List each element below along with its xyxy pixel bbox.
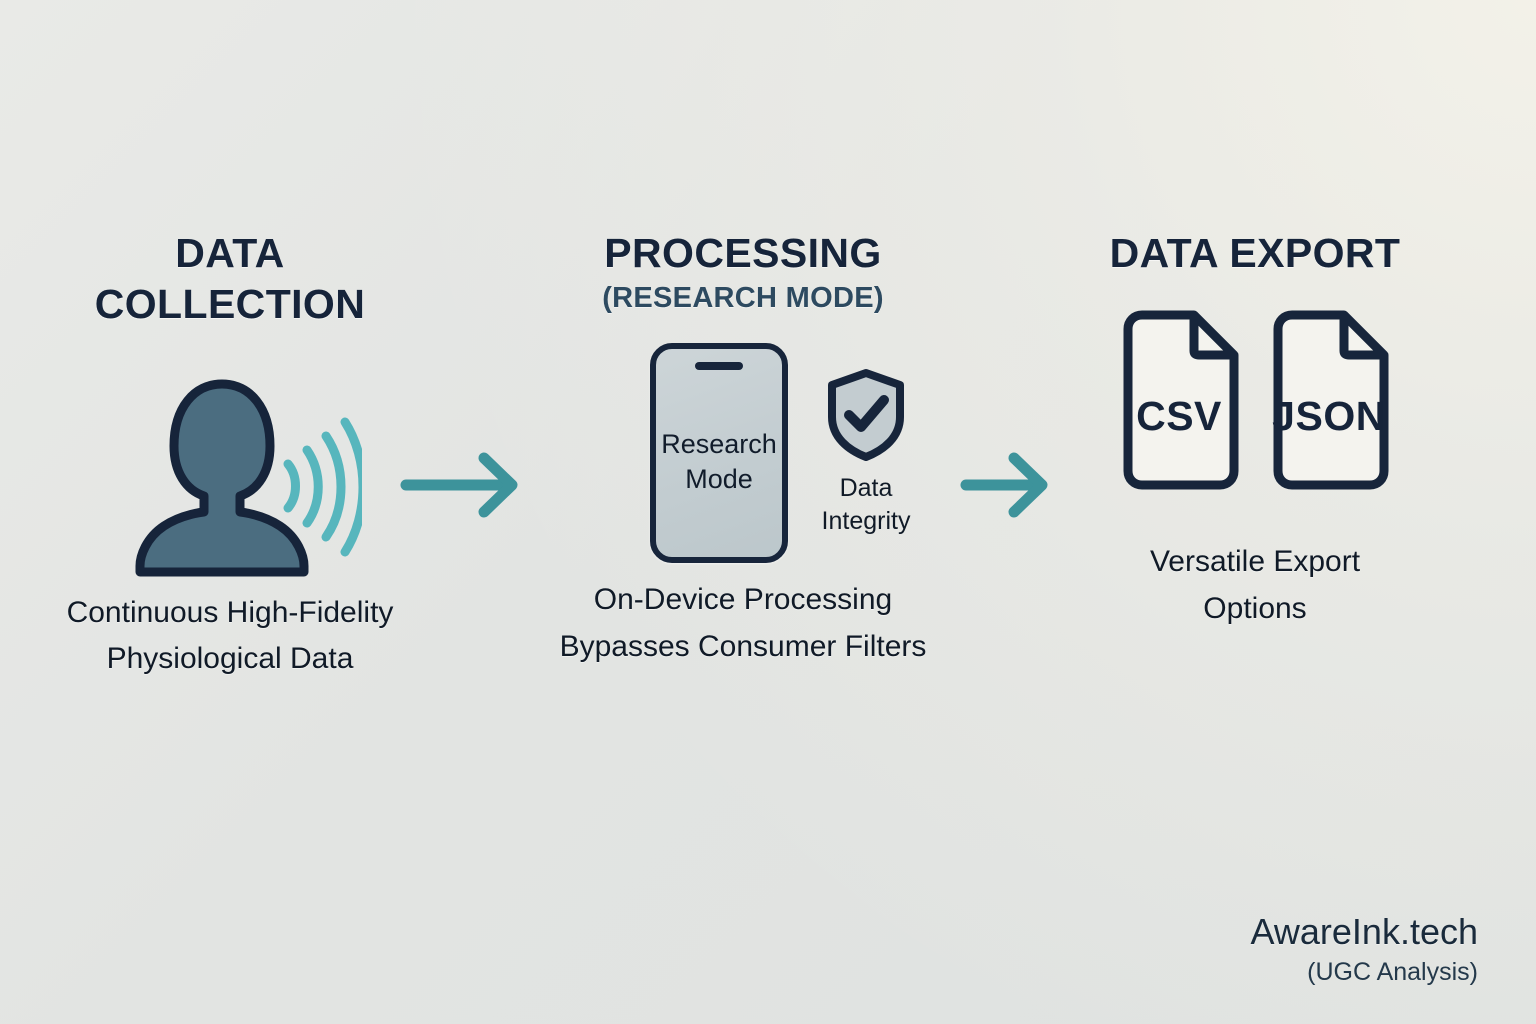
step-1-heading-line-2: COLLECTION	[20, 279, 440, 330]
step-3-caption-line-1: Versatile Export	[1040, 539, 1470, 586]
file-json-label: JSON	[1266, 393, 1392, 440]
step-1-caption: Continuous High-Fidelity Physiological D…	[20, 590, 440, 684]
step-3-heading-line-1: DATA EXPORT	[1040, 228, 1470, 279]
step-2-subheading: (RESEARCH MODE)	[508, 281, 978, 317]
step-3-icon-area: CSV JSON	[1040, 301, 1470, 539]
step-2-caption-line-2: Bypasses Consumer Filters	[508, 624, 978, 671]
step-3-heading: DATA EXPORT	[1040, 228, 1470, 279]
person-with-signal-waves-icon	[112, 360, 362, 580]
step-2-heading-line-1: PROCESSING	[508, 228, 978, 279]
step-2-caption-line-1: On-Device Processing	[508, 577, 978, 624]
person-signal-svg	[112, 360, 362, 580]
shield-label-line-2: Integrity	[806, 505, 926, 538]
device-group: Research Mode Data Integrity	[630, 339, 930, 577]
step-1-icon-area	[20, 352, 440, 590]
shield-check-icon	[824, 367, 908, 463]
step-2-caption: On-Device Processing Bypasses Consumer F…	[508, 577, 978, 671]
footer-branding: AwareInk.tech (UGC Analysis)	[1251, 911, 1478, 988]
pipeline-diagram: DATA COLLECTION	[0, 0, 1536, 1024]
shield-label-line-1: Data	[806, 472, 926, 505]
step-1-heading: DATA COLLECTION	[20, 228, 440, 330]
shield-label: Data Integrity	[806, 472, 926, 538]
phone-screen-label: Research Mode	[650, 427, 788, 498]
footer-subtitle: (UGC Analysis)	[1251, 956, 1478, 989]
step-1-caption-line-1: Continuous High-Fidelity	[20, 590, 440, 637]
step-data-collection: DATA COLLECTION	[20, 228, 440, 683]
data-integrity-badge: Data Integrity	[806, 367, 926, 538]
phone-screen-line-1: Research	[650, 427, 788, 463]
file-csv-icon: CSV	[1116, 307, 1242, 493]
step-3-caption-line-2: Options	[1040, 586, 1470, 633]
smartphone-icon: Research Mode	[650, 343, 788, 563]
step-processing: PROCESSING (RESEARCH MODE) Research Mode	[508, 228, 978, 670]
footer-brand: AwareInk.tech	[1251, 911, 1478, 953]
step-2-heading: PROCESSING	[508, 228, 978, 279]
phone-screen-line-2: Mode	[650, 462, 788, 498]
step-2-icon-area: Research Mode Data Integrity	[508, 339, 978, 577]
file-csv-label: CSV	[1116, 393, 1242, 440]
export-file-group: CSV JSON	[1098, 307, 1410, 507]
step-1-caption-line-2: Physiological Data	[20, 636, 440, 683]
file-json-icon: JSON	[1266, 307, 1392, 493]
phone-speaker-icon	[695, 362, 743, 370]
step-3-caption: Versatile Export Options	[1040, 539, 1470, 633]
step-1-heading-line-1: DATA	[20, 228, 440, 279]
infographic-canvas: DATA COLLECTION	[0, 0, 1536, 1024]
step-data-export: DATA EXPORT CSV	[1040, 228, 1470, 632]
